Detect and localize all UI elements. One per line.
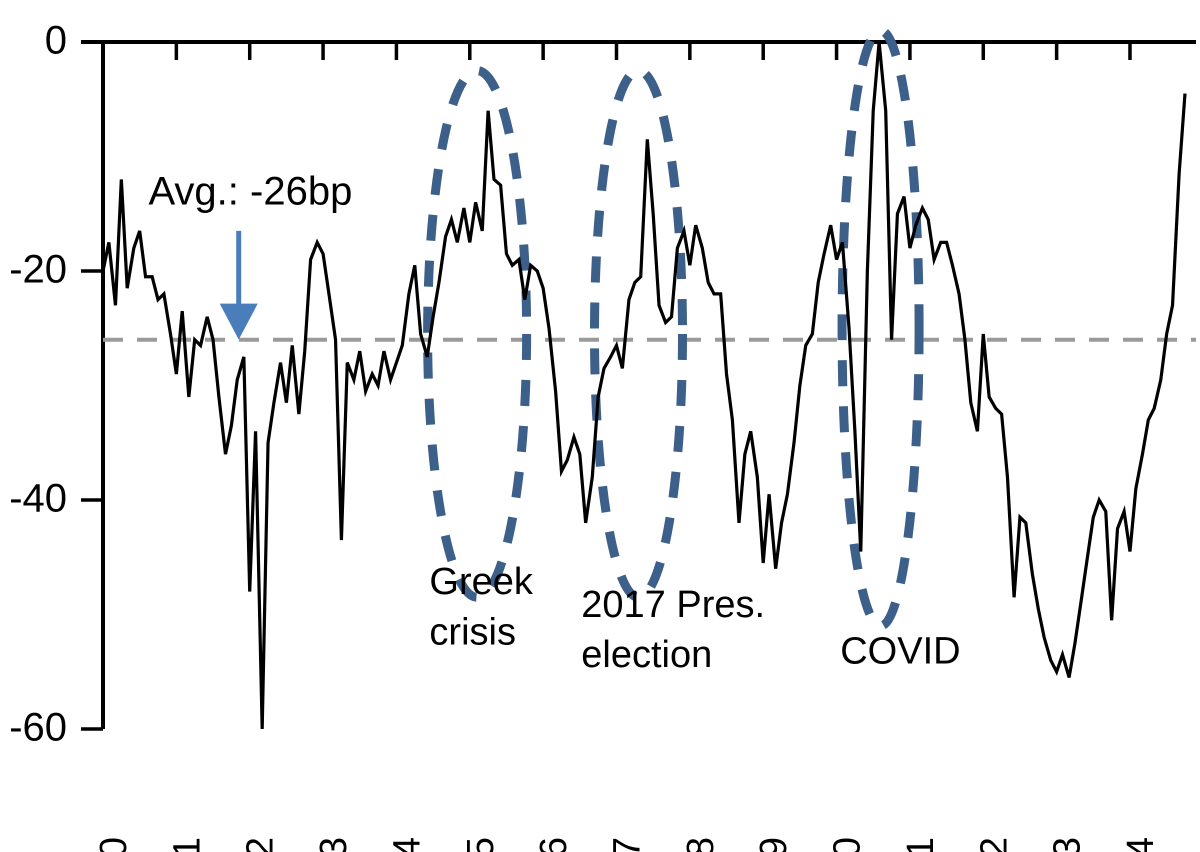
x-tick-label-2010: 2010 — [93, 837, 135, 852]
x-tick-label-2015: 2015 — [460, 837, 502, 852]
x-tick-label-2013: 2013 — [313, 837, 355, 852]
x-tick-label-2020: 2020 — [827, 837, 869, 852]
x-tick-label-2012: 2012 — [240, 837, 282, 852]
chart-background — [0, 0, 1200, 852]
avg-annotation-label: Avg.: -26bp — [148, 170, 352, 214]
election-label-line2: election — [581, 634, 712, 676]
x-tick-label-2011: 2011 — [166, 837, 208, 852]
x-tick-label-2017: 2017 — [607, 837, 649, 852]
x-tick-label-2021: 2021 — [900, 837, 942, 852]
x-tick-label-2018: 2018 — [680, 837, 722, 852]
x-tick-label-2016: 2016 — [533, 837, 575, 852]
y-tick-label--40: -40 — [9, 477, 67, 521]
covid-label: COVID — [840, 631, 960, 673]
x-tick-label-2022: 2022 — [973, 837, 1015, 852]
y-tick-label--60: -60 — [9, 706, 67, 750]
x-tick-label-2024: 2024 — [1120, 837, 1162, 852]
x-tick-label-2019: 2019 — [753, 837, 795, 852]
greek-crisis-label-line1: Greek — [429, 561, 533, 603]
election-label-line1: 2017 Pres. — [581, 584, 765, 626]
x-tick-label-2014: 2014 — [386, 837, 428, 852]
y-tick-label--20: -20 — [9, 248, 67, 292]
x-axis-tick-labels: 2010201120122013201420152016201720182019… — [93, 837, 1162, 852]
x-tick-label-2023: 2023 — [1047, 837, 1089, 852]
chart-container: 0-20-40-60 20102011201220132014201520162… — [0, 0, 1200, 852]
line-chart: 0-20-40-60 20102011201220132014201520162… — [0, 0, 1200, 852]
greek-crisis-label-line2: crisis — [429, 611, 516, 653]
y-tick-label-0: 0 — [45, 19, 67, 63]
